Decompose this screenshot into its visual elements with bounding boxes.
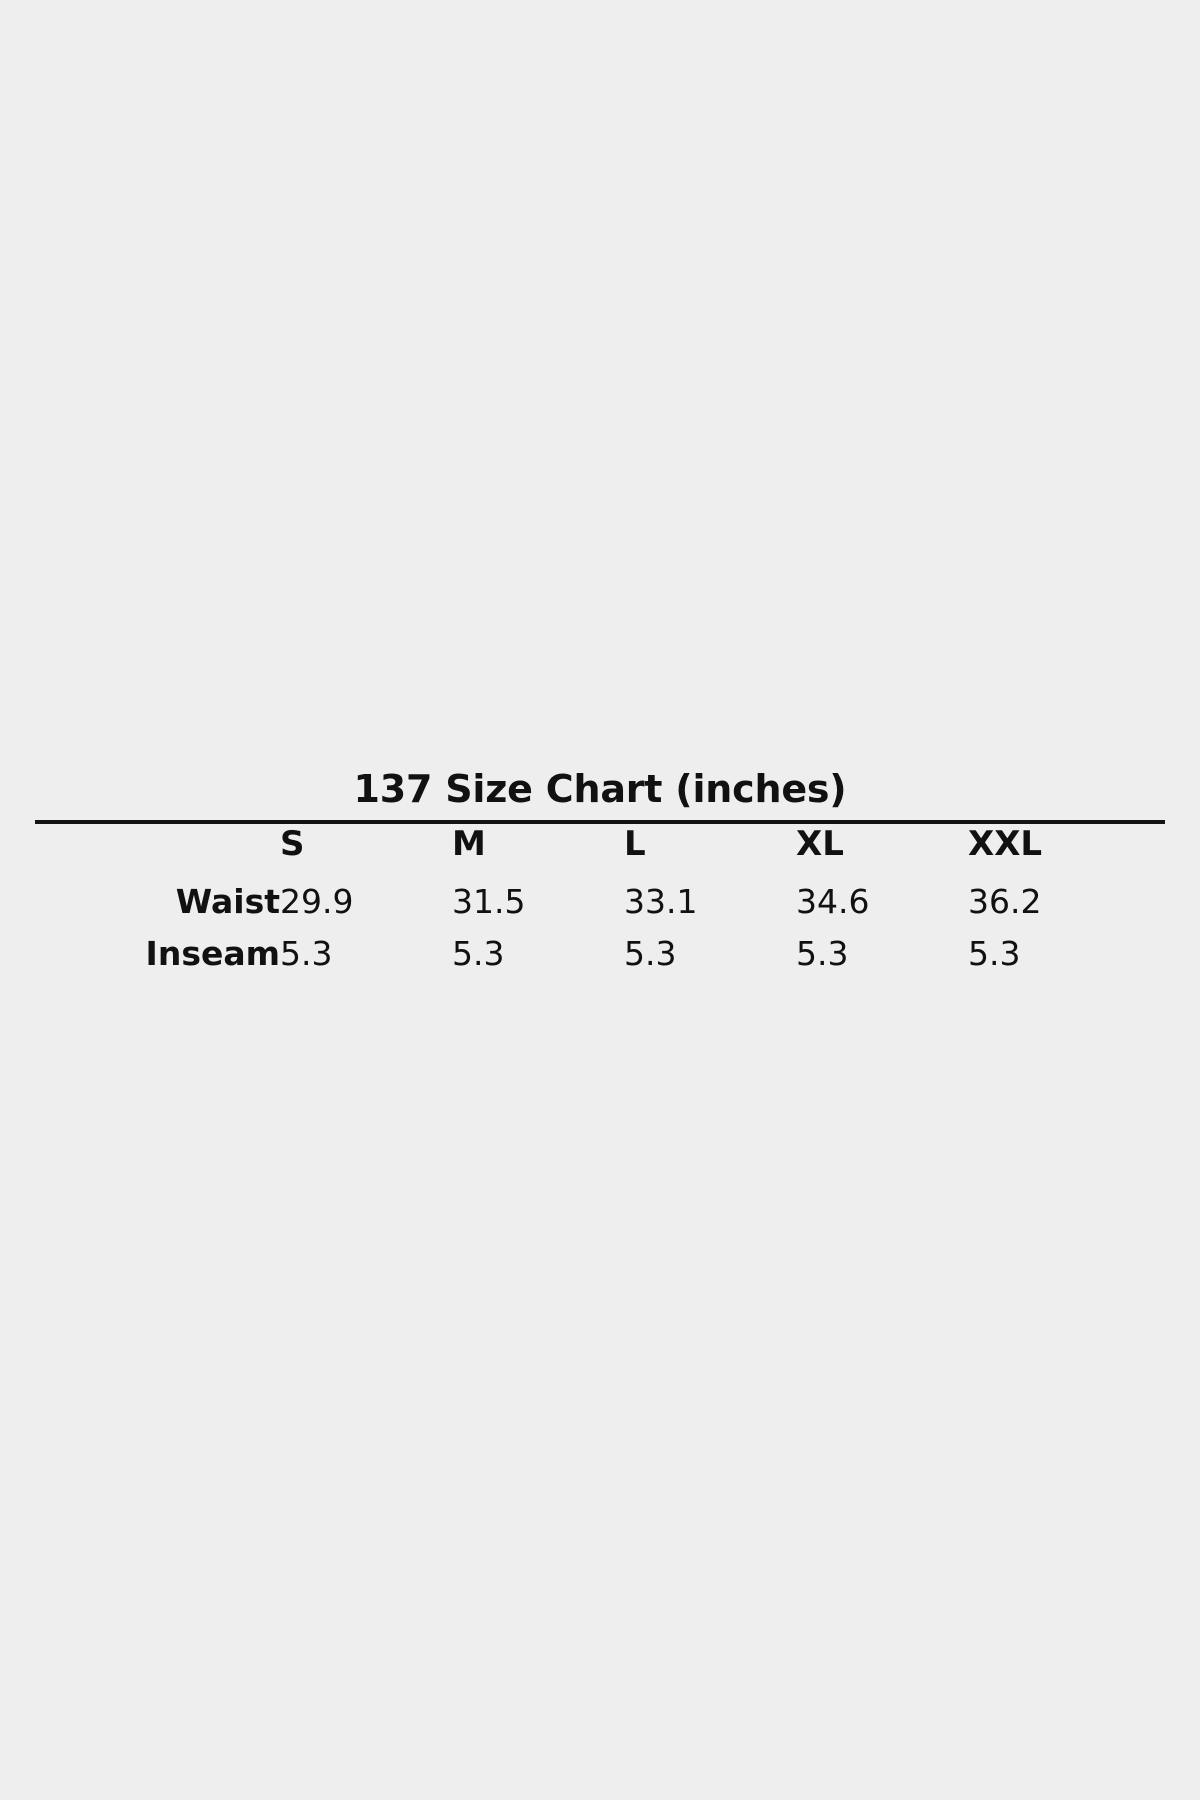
- table-row-pad: [1140, 882, 1165, 934]
- size-chart-table: S M L XL XXL Waist 29.9 31.5 33.1 34.6 3…: [35, 824, 1165, 986]
- column-header-xl: XL: [796, 824, 968, 882]
- table-row-pad: [1140, 934, 1165, 986]
- page-title: 137 Size Chart (inches): [35, 770, 1165, 820]
- size-chart-figure: 137 Size Chart (inches) S M L XL X: [0, 0, 1200, 1800]
- size-chart-block: 137 Size Chart (inches) S M L XL X: [35, 770, 1165, 986]
- cell-waist-m: 31.5: [452, 882, 624, 934]
- cell-inseam-l: 5.3: [624, 934, 796, 986]
- column-header-xxl: XXL: [968, 824, 1140, 882]
- cell-inseam-s: 5.3: [280, 934, 452, 986]
- table-corner-cell: [35, 824, 280, 882]
- cell-waist-l: 33.1: [624, 882, 796, 934]
- column-header-m: M: [452, 824, 624, 882]
- row-label-waist: Waist: [35, 882, 280, 934]
- table-row: Inseam 5.3 5.3 5.3 5.3 5.3: [35, 934, 1165, 986]
- column-header-s: S: [280, 824, 452, 882]
- table-row: Waist 29.9 31.5 33.1 34.6 36.2: [35, 882, 1165, 934]
- column-header-l: L: [624, 824, 796, 882]
- row-label-inseam: Inseam: [35, 934, 280, 986]
- cell-waist-xxl: 36.2: [968, 882, 1140, 934]
- table-header-pad: [1140, 824, 1165, 882]
- cell-inseam-m: 5.3: [452, 934, 624, 986]
- cell-waist-s: 29.9: [280, 882, 452, 934]
- cell-waist-xl: 34.6: [796, 882, 968, 934]
- cell-inseam-xxl: 5.3: [968, 934, 1140, 986]
- cell-inseam-xl: 5.3: [796, 934, 968, 986]
- table-header-row: S M L XL XXL: [35, 824, 1165, 882]
